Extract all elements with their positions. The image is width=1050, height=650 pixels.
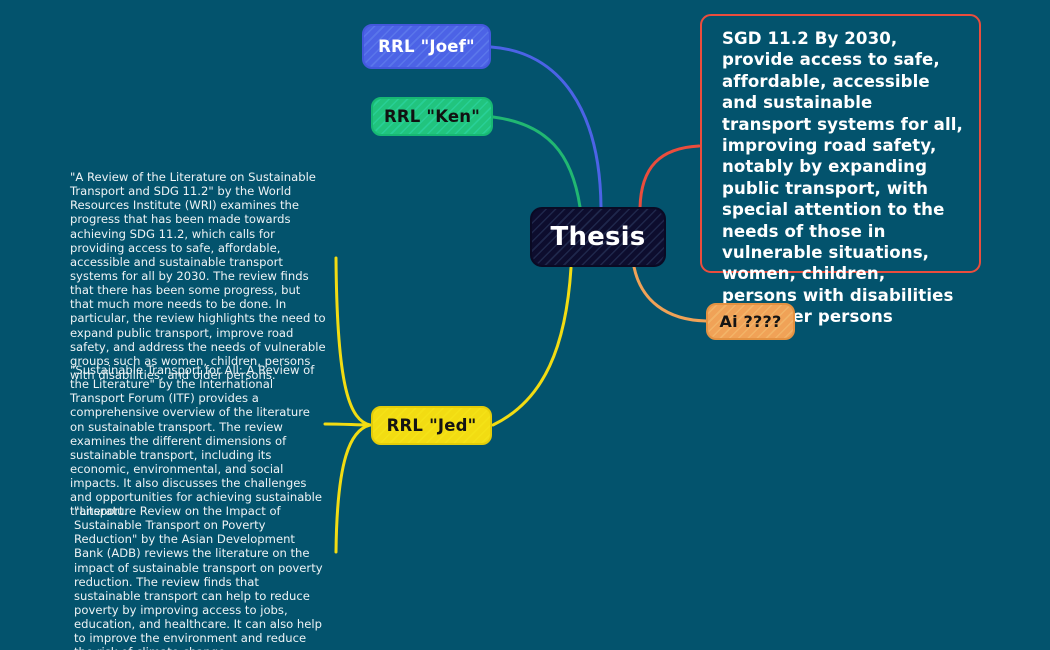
node-rrl-ken-label: RRL "Ken" <box>384 107 480 126</box>
node-rrl-joef[interactable]: RRL "Joef" <box>362 24 491 69</box>
node-rrl-jed-label: RRL "Jed" <box>387 416 477 435</box>
edge-jed-itf <box>325 424 370 425</box>
mindmap-canvas: RRL "Joef" RRL "Ken" Thesis RRL "Jed" Ai… <box>0 0 1050 650</box>
review-paragraph-adb: "Literature Review on the Impact of Sust… <box>74 504 324 650</box>
sdg-target-text: SGD 11.2 By 2030, provide access to safe… <box>722 28 965 327</box>
edge-ken-thesis <box>493 117 580 207</box>
edge-thesis-jed <box>493 268 571 425</box>
edge-jed-adb <box>336 425 370 552</box>
node-ai-unknown[interactable]: Ai ???? <box>706 303 795 340</box>
edge-jed-wri <box>336 258 370 425</box>
review-paragraph-itf: "Sustainable Transport for All: A Review… <box>70 363 326 519</box>
node-rrl-joef-label: RRL "Joef" <box>378 37 475 56</box>
sdg-target-box[interactable]: SGD 11.2 By 2030, provide access to safe… <box>700 14 981 273</box>
node-rrl-ken[interactable]: RRL "Ken" <box>371 97 493 136</box>
node-rrl-jed[interactable]: RRL "Jed" <box>371 406 492 445</box>
node-thesis[interactable]: Thesis <box>530 207 666 267</box>
edge-thesis-ai <box>634 267 706 321</box>
node-thesis-label: Thesis <box>551 222 646 252</box>
review-paragraph-wri: "A Review of the Literature on Sustainab… <box>70 170 326 382</box>
node-ai-unknown-label: Ai ???? <box>720 312 782 331</box>
edge-joef-thesis <box>491 47 601 207</box>
edge-sdg-thesis <box>640 146 699 208</box>
